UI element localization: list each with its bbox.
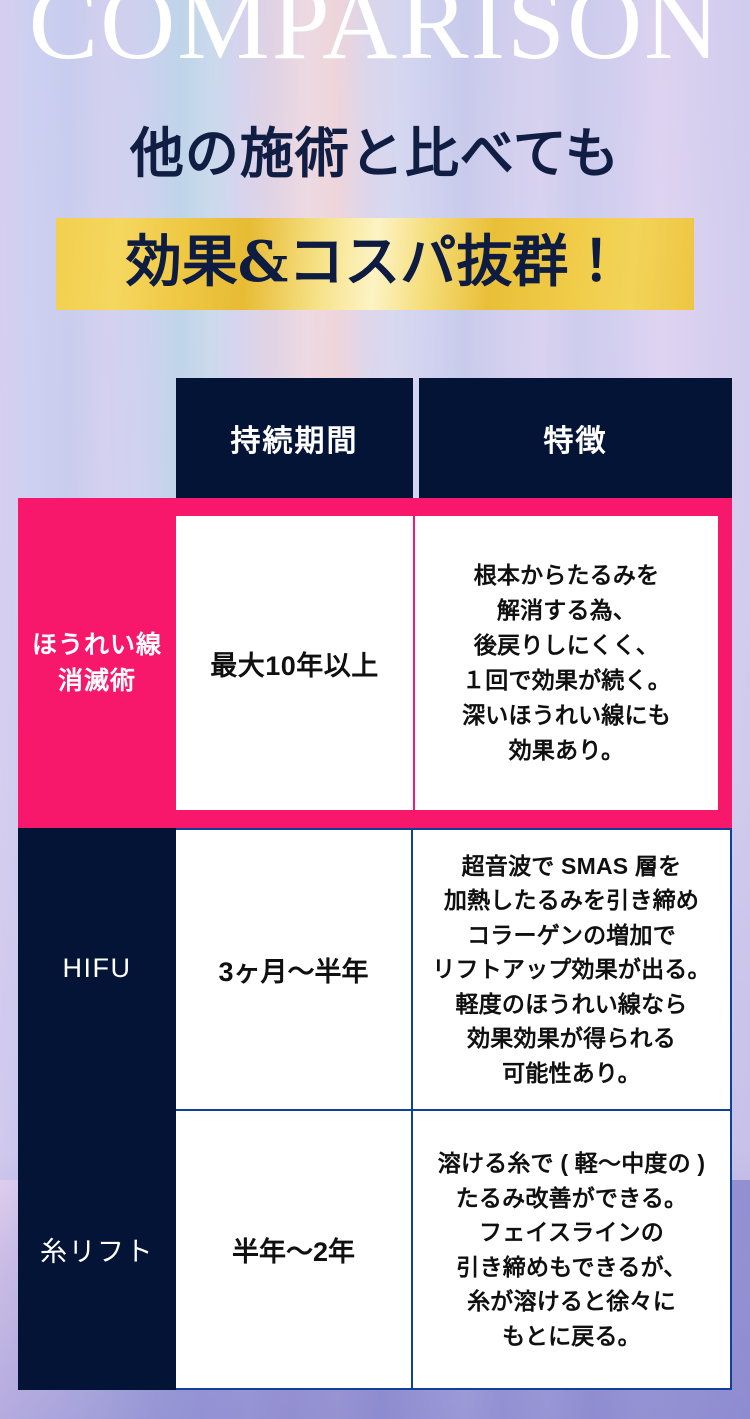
row-feature-hourei-shoumetsu: 根本からたるみを 解消する為、 後戻りしにくく、 １回で効果が続く。 深いほうれ… [415, 516, 718, 810]
comparison-page: COMPARISON 他の施術と比べても 効果&コスパ抜群！ 持続期間 特徴 ほ… [0, 0, 750, 1419]
row-feature-hifu: 超音波で SMAS 層を 加熱したるみを引き締め コラーゲンの増加で リフトアッ… [413, 828, 732, 1109]
table-row-ito-lift: 糸リフト 半年〜2年 溶ける糸で ( 軽〜中度の ) たるみ改善ができる。 フェ… [18, 1109, 732, 1390]
table-row-hifu: HIFU 3ヶ月〜半年 超音波で SMAS 層を 加熱したるみを引き締め コラー… [18, 828, 732, 1109]
highlight-row-body: 最大10年以上 根本からたるみを 解消する為、 後戻りしにくく、 １回で効果が続… [176, 516, 718, 810]
gold-banner-text: 効果&コスパ抜群！ [126, 234, 625, 290]
row-duration-ito-lift: 半年〜2年 [176, 1109, 413, 1390]
row-label-hifu: HIFU [18, 828, 176, 1109]
comparison-table: 持続期間 特徴 ほうれい線 消滅術 最大10年以上 根本からたるみを 解消する為… [18, 378, 732, 1390]
table-row-highlighted: ほうれい線 消滅術 最大10年以上 根本からたるみを 解消する為、 後戻りしにく… [18, 498, 732, 828]
row-feature-ito-lift: 溶ける糸で ( 軽〜中度の ) たるみ改善ができる。 フェイスラインの 引き締め… [413, 1109, 732, 1390]
row-duration-hifu: 3ヶ月〜半年 [176, 828, 413, 1109]
column-header-feature: 特徴 [419, 378, 732, 498]
gold-banner: 効果&コスパ抜群！ [56, 218, 694, 310]
table-header-row: 持続期間 特徴 [176, 378, 732, 498]
row-label-ito-lift: 糸リフト [18, 1109, 176, 1390]
row-label-hourei-shoumetsu: ほうれい線 消滅術 [18, 498, 176, 828]
comparison-watermark-title: COMPARISON [0, 0, 750, 76]
hero-subtitle: 他の施術と比べても [0, 124, 750, 182]
row-duration-hourei-shoumetsu: 最大10年以上 [176, 516, 415, 810]
column-header-duration: 持続期間 [176, 378, 413, 498]
